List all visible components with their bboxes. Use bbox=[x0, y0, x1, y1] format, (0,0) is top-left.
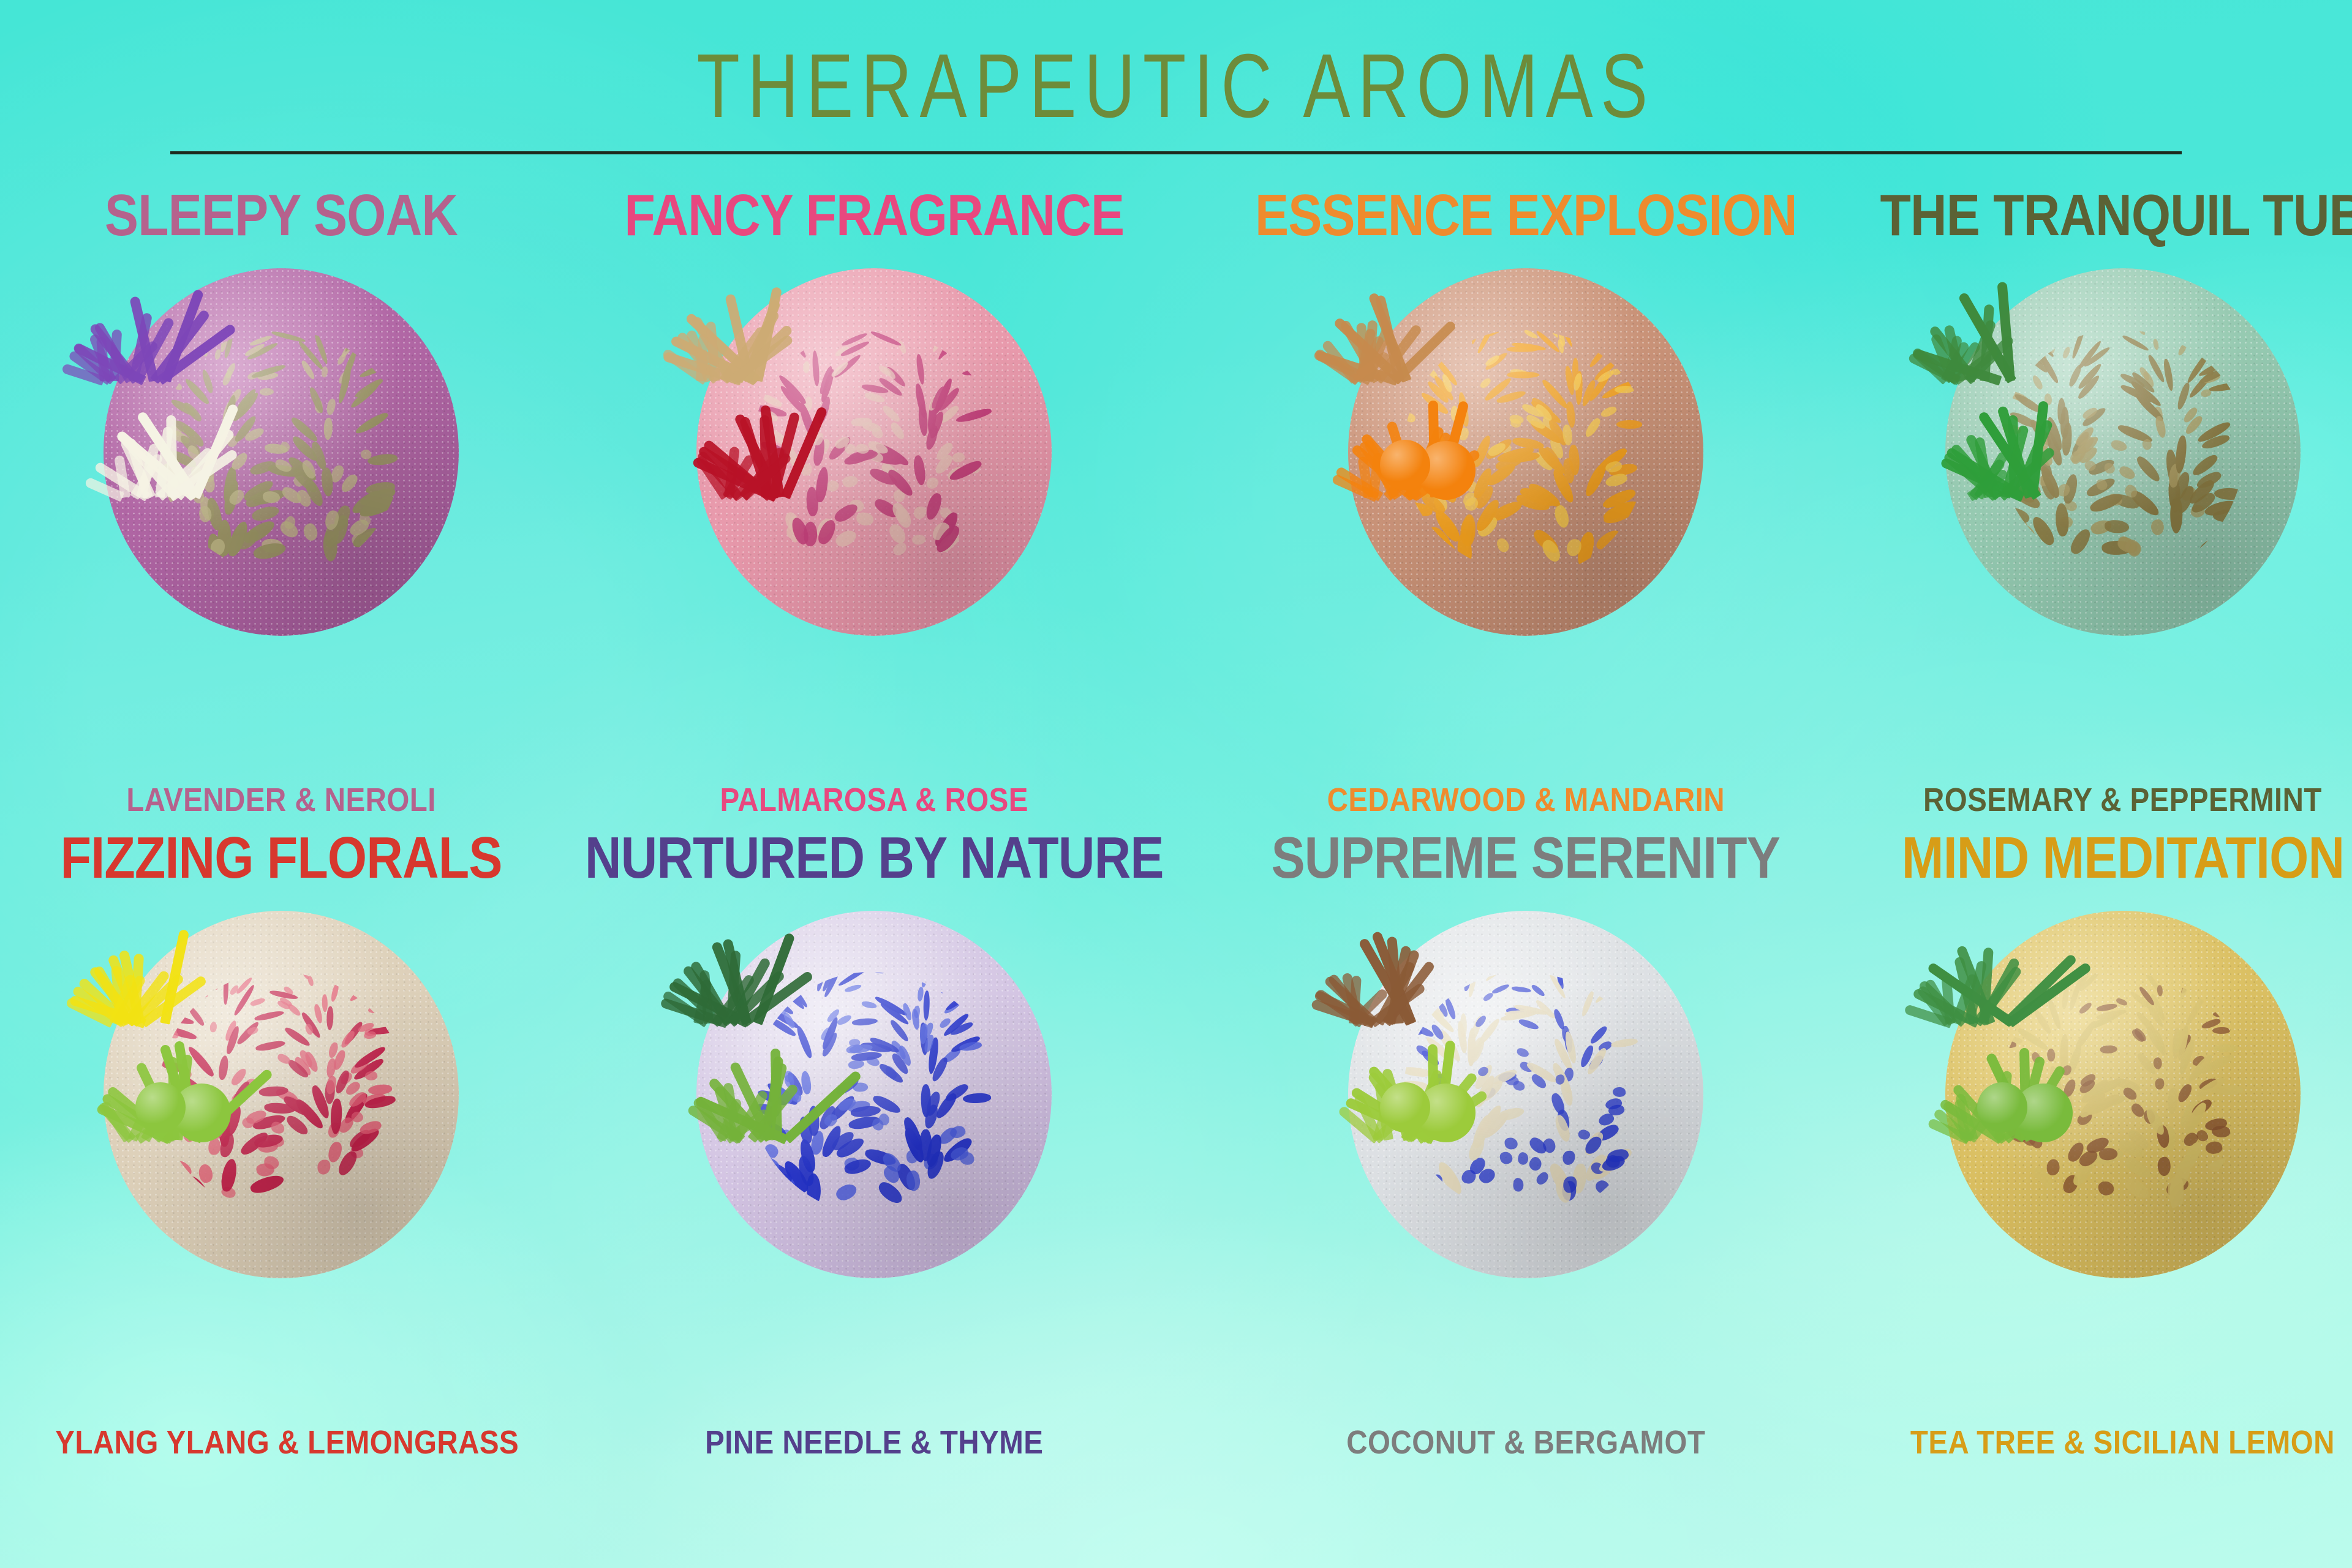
mandarin-fruit-icon bbox=[1341, 387, 1482, 503]
botanical-flake bbox=[1491, 982, 1510, 995]
botanical-flake bbox=[1591, 1148, 1626, 1183]
botanical-flake bbox=[959, 1040, 982, 1052]
botanical-flake bbox=[2149, 518, 2166, 537]
botanical-flake bbox=[752, 521, 774, 538]
product-card[interactable]: FIZZING FLORALSYLANG YLANG & LEMONGRASS bbox=[24, 829, 538, 1471]
botanical-flake bbox=[815, 516, 834, 540]
botanical-flake bbox=[957, 344, 986, 356]
botanical-flake bbox=[245, 1108, 268, 1127]
botanical-flake bbox=[1468, 972, 1478, 998]
product-title: ESSENCE EXPLOSION bbox=[1255, 186, 1797, 245]
product-title: SUPREME SERENITY bbox=[1272, 829, 1780, 888]
botanical-flake bbox=[2127, 488, 2162, 519]
botanical-flake bbox=[2214, 1044, 2238, 1053]
botanical-flake bbox=[925, 1091, 941, 1118]
botanical-flake bbox=[2211, 533, 2223, 548]
botanical-flake bbox=[2201, 432, 2231, 452]
botanical-flake bbox=[1588, 1025, 1608, 1046]
product-card[interactable]: SUPREME SERENITYCOCONUT & BERGAMOT bbox=[1211, 829, 1841, 1471]
botanical-flake bbox=[2209, 357, 2221, 364]
botanical-flake bbox=[816, 518, 837, 546]
botanical-flake bbox=[2185, 350, 2211, 385]
botanical-flake bbox=[183, 1172, 213, 1204]
botanical-flake bbox=[360, 448, 373, 461]
botanical-flake bbox=[336, 1148, 359, 1178]
rosemary-sprig-icon bbox=[1916, 271, 2057, 387]
botanical-flake bbox=[325, 523, 339, 548]
botanical-flake bbox=[916, 354, 927, 385]
botanical-flake bbox=[1474, 1014, 1488, 1029]
botanical-flake bbox=[962, 1092, 992, 1105]
botanical-flake bbox=[1536, 445, 1568, 477]
botanical-flake bbox=[1602, 498, 1640, 524]
botanical-flake bbox=[2123, 538, 2144, 558]
botanical-flake bbox=[317, 1159, 331, 1175]
botanical-flake bbox=[879, 461, 902, 483]
botanical-flake bbox=[761, 533, 782, 554]
botanical-flake bbox=[924, 1022, 935, 1038]
botanical-flake bbox=[919, 1023, 928, 1044]
botanical-flake bbox=[1496, 444, 1535, 464]
botanical-flake bbox=[850, 499, 865, 513]
botanical-flake bbox=[1535, 330, 1561, 354]
botanical-flake bbox=[298, 1049, 315, 1069]
botanical-flake bbox=[359, 529, 382, 548]
botanical-flake bbox=[2078, 1077, 2097, 1096]
botanical-flake bbox=[923, 1034, 935, 1053]
botanical-flake bbox=[1483, 376, 1513, 404]
botanical-flake bbox=[2118, 464, 2137, 481]
botanical-flake bbox=[331, 514, 350, 545]
cedarwood-bark-icon bbox=[1319, 271, 1460, 387]
botanical-flake bbox=[233, 984, 256, 1017]
botanical-flake bbox=[1587, 1053, 1605, 1072]
botanical-flake bbox=[848, 1114, 881, 1132]
botanical-flake bbox=[1555, 1108, 1572, 1132]
botanical-flake bbox=[867, 439, 889, 455]
botanical-flake bbox=[1486, 440, 1507, 459]
botanical-flake bbox=[1583, 462, 1608, 499]
botanical-flake bbox=[878, 377, 904, 398]
botanical-flake bbox=[326, 398, 337, 415]
product-caption: COCONUT & BERGAMOT bbox=[1248, 1423, 1803, 1461]
botanical-flake bbox=[1561, 1181, 1577, 1202]
botanical-flake bbox=[313, 1004, 324, 1024]
botanical-flake bbox=[2194, 1074, 2227, 1101]
botanical-flake bbox=[256, 1162, 276, 1178]
botanical-flake bbox=[242, 477, 275, 505]
botanical-flake bbox=[1580, 379, 1596, 407]
botanical-flake bbox=[1563, 1031, 1574, 1053]
botanical-flake bbox=[917, 404, 929, 437]
botanical-flake bbox=[2186, 1052, 2214, 1084]
product-card[interactable]: FANCY FRAGRANCEPALMAROSA & ROSE bbox=[538, 186, 1210, 829]
botanical-flake bbox=[2141, 1108, 2157, 1125]
botanical-flake bbox=[941, 1134, 974, 1166]
botanical-flake bbox=[937, 330, 960, 361]
product-card[interactable]: SLEEPY SOAKLAVENDER & NEROLI bbox=[24, 186, 538, 829]
botanical-flake bbox=[352, 1056, 385, 1083]
botanical-flake bbox=[2177, 1033, 2193, 1057]
botanical-flake bbox=[925, 1150, 946, 1181]
botanical-flake bbox=[880, 404, 902, 424]
botanical-flake bbox=[891, 541, 909, 557]
botanical-flake bbox=[2068, 363, 2083, 388]
botanical-flake bbox=[358, 359, 393, 379]
botanical-flake bbox=[271, 330, 306, 343]
product-card[interactable]: THE TRANQUIL TUBROSEMARY & PEPPERMINT bbox=[1841, 186, 2352, 829]
botanical-flake bbox=[250, 997, 266, 1008]
thyme-sprig-icon bbox=[689, 1030, 830, 1146]
botanical-flake bbox=[1540, 415, 1556, 432]
botanical-flake bbox=[2212, 999, 2245, 1007]
botanical-flake bbox=[940, 337, 960, 358]
botanical-flake bbox=[1496, 388, 1526, 405]
botanical-flake bbox=[913, 382, 928, 418]
botanical-flake bbox=[1555, 330, 1574, 347]
botanical-flake bbox=[1606, 1147, 1630, 1166]
botanical-flake bbox=[830, 1128, 856, 1153]
botanical-flake bbox=[1564, 1177, 1578, 1193]
botanical-flake bbox=[805, 1173, 822, 1205]
poster-canvas: THERAPEUTIC AROMAS SLEEPY SOAKLAVENDER &… bbox=[0, 0, 2352, 1568]
product-card[interactable]: MIND MEDITATIONTEA TREE & SICILIAN LEMON bbox=[1841, 829, 2352, 1471]
botanical-flake bbox=[2169, 497, 2183, 533]
botanical-flake bbox=[1460, 516, 1474, 545]
botanical-flake bbox=[1427, 1172, 1445, 1189]
botanical-flake bbox=[2046, 1159, 2060, 1176]
botanical-flake bbox=[856, 513, 874, 526]
botanical-flake bbox=[333, 330, 339, 343]
botanical-flake bbox=[1596, 369, 1615, 385]
botanical-flake bbox=[861, 1001, 877, 1009]
botanical-flake bbox=[2153, 405, 2165, 422]
botanical-flake bbox=[1513, 1080, 1526, 1091]
product-caption: TEA TREE & SICILIAN LEMON bbox=[1875, 1423, 2352, 1461]
botanical-flake bbox=[304, 1023, 314, 1036]
botanical-flake bbox=[337, 1115, 355, 1136]
botanical-flake bbox=[925, 1134, 943, 1168]
botanical-flake bbox=[347, 516, 371, 539]
botanical-flake bbox=[2117, 423, 2154, 445]
botanical-flake bbox=[1601, 379, 1634, 401]
botanical-flake bbox=[2199, 388, 2212, 398]
botanical-flake bbox=[865, 1055, 881, 1067]
botanical-flake bbox=[785, 514, 805, 537]
botanical-flake bbox=[2128, 1101, 2147, 1119]
botanical-flake bbox=[1548, 436, 1566, 460]
botanical-flake bbox=[933, 377, 954, 415]
botanical-flake bbox=[925, 492, 944, 522]
botanical-flake bbox=[1525, 413, 1547, 431]
product-grid: SLEEPY SOAKLAVENDER & NEROLIFANCY FRAGRA… bbox=[0, 154, 2352, 1496]
tea-tree-sprig-icon bbox=[1916, 913, 2057, 1030]
botanical-flake bbox=[1534, 1170, 1551, 1186]
botanical-flake bbox=[247, 370, 261, 381]
botanical-flake bbox=[290, 466, 320, 495]
botanical-flake bbox=[1482, 991, 1494, 1002]
botanical-flake bbox=[1526, 481, 1564, 510]
botanical-flake bbox=[870, 1093, 902, 1115]
botanical-flake bbox=[2198, 533, 2231, 559]
botanical-flake bbox=[2078, 1090, 2108, 1121]
botanical-flake bbox=[2190, 1096, 2214, 1119]
botanical-flake bbox=[868, 467, 899, 488]
botanical-flake bbox=[280, 484, 304, 505]
product-caption: CEDARWOOD & MANDARIN bbox=[1248, 781, 1803, 819]
botanical-flake bbox=[905, 1170, 922, 1193]
botanical-flake bbox=[2128, 990, 2154, 1011]
botanical-flake bbox=[249, 1172, 285, 1197]
botanical-flake bbox=[897, 1044, 914, 1067]
botanical-flake bbox=[350, 487, 383, 517]
botanical-flake bbox=[2198, 1052, 2235, 1077]
botanical-flake bbox=[2013, 521, 2038, 543]
botanical-flake bbox=[2076, 373, 2101, 401]
botanical-flake bbox=[1528, 418, 1563, 445]
bath-bomb-image bbox=[1330, 911, 1722, 1303]
botanical-flake bbox=[339, 1029, 356, 1049]
botanical-flake bbox=[2113, 492, 2141, 511]
botanical-flake bbox=[344, 1079, 361, 1098]
botanical-flake bbox=[883, 1065, 899, 1080]
bergamot-lime-icon bbox=[1341, 1030, 1482, 1146]
botanical-flake bbox=[326, 1058, 337, 1079]
botanical-flake bbox=[836, 1013, 853, 1027]
botanical-flake bbox=[1597, 1039, 1613, 1053]
botanical-flake bbox=[1510, 418, 1521, 428]
bath-bomb-image bbox=[678, 268, 1070, 660]
botanical-flake bbox=[301, 522, 320, 543]
botanical-flake bbox=[2196, 419, 2233, 445]
botanical-flake bbox=[1529, 396, 1556, 418]
botanical-flake bbox=[865, 972, 884, 974]
botanical-flake bbox=[326, 1076, 337, 1095]
botanical-flake bbox=[834, 345, 849, 358]
botanical-flake bbox=[782, 510, 803, 533]
botanical-flake bbox=[285, 454, 319, 483]
botanical-flake bbox=[849, 1042, 873, 1054]
botanical-flake bbox=[2165, 450, 2180, 487]
botanical-flake bbox=[1468, 1155, 1488, 1177]
botanical-flake bbox=[851, 1050, 882, 1062]
botanical-flake bbox=[2129, 380, 2163, 409]
botanical-flake bbox=[1572, 1163, 1586, 1194]
botanical-flake bbox=[1589, 1160, 1607, 1177]
botanical-flake bbox=[2117, 1138, 2147, 1160]
botanical-flake bbox=[889, 1052, 911, 1076]
botanical-flake bbox=[2142, 972, 2164, 996]
botanical-flake bbox=[892, 505, 914, 530]
botanical-flake bbox=[843, 443, 856, 456]
product-title: NURTURED BY NATURE bbox=[585, 829, 1164, 888]
botanical-flake bbox=[1485, 972, 1515, 982]
botanical-flake bbox=[313, 333, 330, 364]
botanical-flake bbox=[862, 421, 882, 433]
botanical-flake bbox=[214, 349, 221, 360]
botanical-flake bbox=[1567, 444, 1581, 475]
botanical-flake bbox=[856, 444, 869, 454]
botanical-flake bbox=[920, 1084, 932, 1118]
botanical-flake bbox=[912, 534, 926, 545]
botanical-flake bbox=[1572, 372, 1582, 391]
botanical-flake bbox=[1601, 486, 1638, 512]
botanical-flake bbox=[2078, 1147, 2101, 1169]
botanical-flake bbox=[842, 473, 859, 489]
botanical-flake bbox=[1588, 330, 1610, 348]
botanical-flake bbox=[314, 399, 323, 413]
botanical-flake bbox=[276, 1000, 291, 1011]
botanical-flake bbox=[2122, 1175, 2152, 1201]
botanical-flake bbox=[2122, 334, 2150, 352]
botanical-flake bbox=[959, 1151, 975, 1166]
accent-fruit bbox=[1977, 1082, 2027, 1133]
botanical-flake bbox=[247, 1025, 260, 1036]
botanical-flake bbox=[1572, 972, 1576, 980]
botanical-flake bbox=[1430, 530, 1463, 567]
botanical-flake bbox=[837, 1096, 858, 1114]
botanical-flake bbox=[2094, 1093, 2127, 1111]
botanical-flake bbox=[948, 458, 984, 484]
bath-bomb-image bbox=[1927, 268, 2319, 660]
botanical-flake bbox=[933, 453, 954, 477]
botanical-flake bbox=[2166, 1176, 2182, 1201]
botanical-flake bbox=[1512, 1177, 1525, 1193]
botanical-flake bbox=[923, 991, 929, 1021]
botanical-flake bbox=[2135, 1011, 2158, 1035]
botanical-flake bbox=[2095, 1008, 2127, 1021]
botanical-flake bbox=[276, 1052, 292, 1065]
botanical-flake bbox=[1532, 450, 1556, 473]
product-caption: ROSEMARY & PEPPERMINT bbox=[1875, 781, 2352, 819]
botanical-flake bbox=[1551, 1038, 1575, 1072]
botanical-flake bbox=[332, 1049, 346, 1071]
botanical-flake bbox=[755, 1155, 781, 1174]
botanical-flake bbox=[822, 972, 838, 992]
botanical-flake bbox=[1553, 1176, 1575, 1204]
botanical-flake bbox=[359, 484, 398, 509]
botanical-flake bbox=[2173, 471, 2191, 501]
botanical-flake bbox=[285, 1058, 310, 1080]
botanical-flake bbox=[229, 984, 239, 996]
botanical-flake bbox=[327, 1141, 343, 1164]
botanical-flake bbox=[2212, 1125, 2231, 1138]
botanical-flake bbox=[949, 1034, 981, 1055]
botanical-flake bbox=[266, 1134, 284, 1148]
botanical-flake bbox=[894, 1161, 919, 1193]
botanical-flake bbox=[363, 1027, 379, 1037]
botanical-flake bbox=[2176, 1082, 2193, 1104]
botanical-flake bbox=[886, 522, 909, 546]
botanical-flake bbox=[357, 1021, 375, 1035]
botanical-flake bbox=[330, 464, 345, 484]
botanical-flake bbox=[921, 973, 929, 988]
botanical-flake bbox=[2083, 459, 2098, 473]
botanical-flake bbox=[1496, 1105, 1525, 1123]
botanical-flake bbox=[949, 1144, 970, 1163]
botanical-flake bbox=[962, 367, 997, 377]
product-title: FIZZING FLORALS bbox=[61, 829, 502, 888]
palmarosa-bundle-icon bbox=[667, 271, 808, 387]
botanical-flake bbox=[1506, 1076, 1519, 1086]
botanical-flake bbox=[2116, 535, 2134, 552]
botanical-flake bbox=[347, 1089, 369, 1110]
botanical-flake bbox=[254, 1009, 285, 1022]
botanical-flake bbox=[370, 342, 395, 349]
botanical-flake bbox=[843, 1156, 861, 1172]
botanical-flake bbox=[236, 1020, 261, 1047]
botanical-flake bbox=[944, 1081, 970, 1104]
botanical-flake bbox=[2122, 1155, 2154, 1181]
botanical-flake bbox=[2176, 382, 2191, 410]
botanical-flake bbox=[2085, 1134, 2111, 1156]
botanical-flake bbox=[1583, 416, 1602, 439]
botanical-flake bbox=[338, 1070, 353, 1087]
botanical-flake bbox=[2176, 1025, 2190, 1061]
botanical-flake bbox=[1527, 1155, 1544, 1173]
botanical-flake bbox=[279, 440, 292, 454]
botanical-flake bbox=[864, 448, 902, 467]
botanical-flake bbox=[934, 1091, 959, 1121]
botanical-flake bbox=[282, 514, 298, 531]
botanical-flake bbox=[328, 1041, 339, 1058]
botanical-flake bbox=[196, 1163, 214, 1184]
botanical-flake bbox=[938, 1017, 952, 1030]
botanical-flake bbox=[1514, 1003, 1548, 1016]
botanical-flake bbox=[1548, 972, 1567, 1000]
botanical-flake bbox=[326, 1121, 341, 1139]
botanical-flake bbox=[2086, 1091, 2122, 1118]
botanical-flake bbox=[300, 360, 317, 380]
product-card[interactable]: NURTURED BY NATUREPINE NEEDLE & THYME bbox=[538, 829, 1210, 1471]
botanical-flake bbox=[1604, 459, 1623, 475]
botanical-flake bbox=[913, 506, 927, 519]
botanical-flake bbox=[883, 366, 898, 380]
botanical-flake bbox=[251, 1112, 286, 1133]
botanical-flake bbox=[795, 1154, 816, 1187]
botanical-flake bbox=[359, 492, 398, 518]
botanical-flake bbox=[1593, 359, 1618, 383]
botanical-flake bbox=[830, 360, 850, 379]
botanical-flake bbox=[1596, 1146, 1627, 1174]
accent-fruit bbox=[1380, 1082, 1430, 1133]
botanical-flake bbox=[223, 972, 228, 1005]
botanical-flake bbox=[1529, 399, 1563, 426]
botanical-flake bbox=[1463, 977, 1471, 992]
botanical-flake bbox=[1616, 1004, 1648, 1011]
botanical-flake bbox=[1530, 527, 1562, 556]
botanical-flake bbox=[1600, 1152, 1627, 1174]
botanical-flake bbox=[1612, 1087, 1626, 1098]
botanical-flake bbox=[1460, 1168, 1477, 1185]
botanical-flake bbox=[937, 386, 961, 413]
botanical-flake bbox=[943, 998, 963, 1016]
botanical-flake bbox=[350, 524, 382, 552]
botanical-flake bbox=[2212, 1027, 2231, 1035]
botanical-flake bbox=[307, 976, 315, 987]
botanical-flake bbox=[943, 330, 963, 345]
botanical-flake bbox=[349, 985, 369, 1003]
botanical-flake bbox=[816, 972, 827, 992]
botanical-flake bbox=[2136, 330, 2147, 336]
product-card[interactable]: ESSENCE EXPLOSIONCEDARWOOD & MANDARIN bbox=[1211, 186, 1841, 829]
botanical-flake bbox=[867, 449, 885, 464]
botanical-flake bbox=[259, 388, 274, 396]
botanical-flake bbox=[2198, 366, 2228, 386]
botanical-flake bbox=[159, 1147, 167, 1159]
botanical-flake bbox=[946, 464, 968, 483]
botanical-flake bbox=[956, 406, 993, 424]
